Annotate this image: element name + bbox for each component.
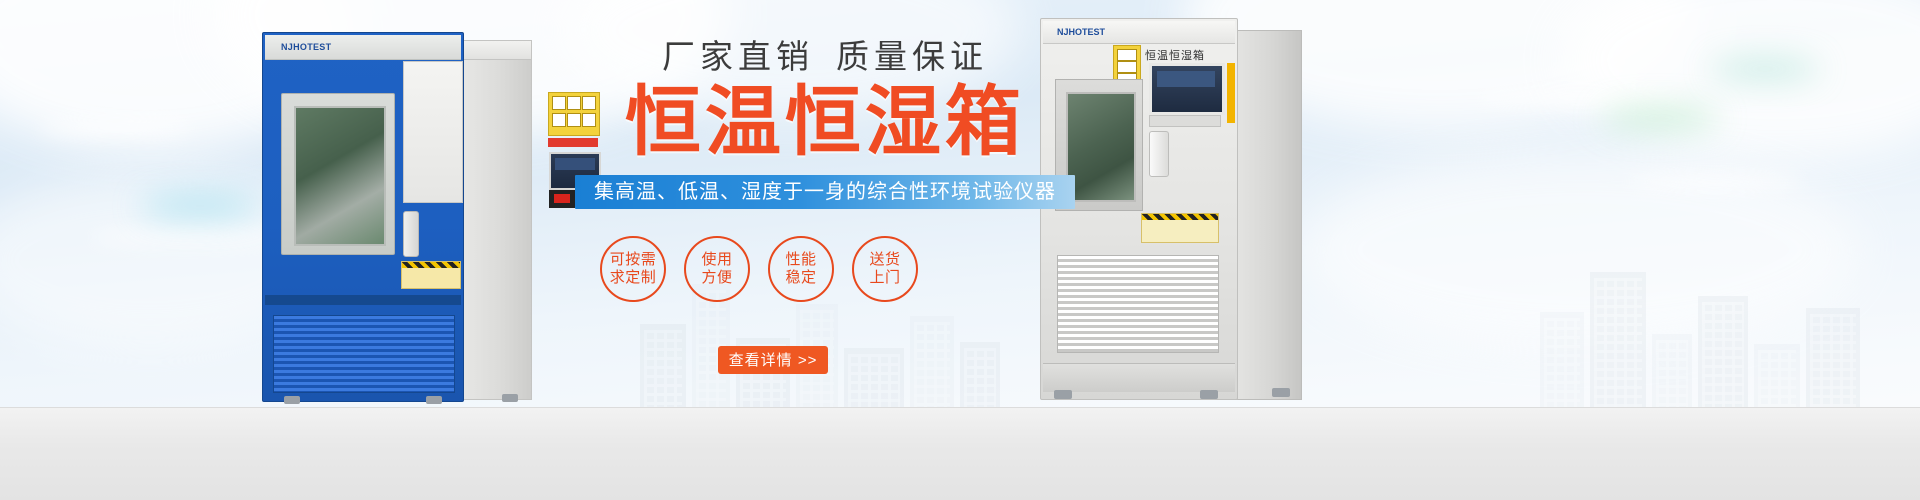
chamber-left-door-handle bbox=[403, 211, 419, 257]
cloud-wisp bbox=[1630, 175, 1800, 189]
promo-banner: NJHOTEST bbox=[0, 0, 1920, 500]
building-shape bbox=[640, 324, 686, 408]
chamber-right-display-screen bbox=[1149, 63, 1225, 115]
feature-badge-easy-use[interactable]: 使用 方便 bbox=[684, 236, 750, 302]
product-image-right: NJHOTEST 恒温恒湿箱 bbox=[1040, 18, 1300, 400]
badge-line-2: 上门 bbox=[869, 269, 900, 287]
chamber-right-foot bbox=[1272, 388, 1290, 397]
building-shape bbox=[1806, 308, 1860, 408]
chamber-left-foot bbox=[502, 394, 518, 402]
badge-line-1: 使用 bbox=[701, 251, 732, 269]
building-shape bbox=[1540, 312, 1584, 408]
skyline-silhouette bbox=[1540, 258, 1880, 408]
chamber-left-brand-label: NJHOTEST bbox=[281, 42, 331, 52]
chamber-left-spec-plate bbox=[401, 261, 461, 289]
chamber-left-ventilation-grille bbox=[273, 315, 455, 393]
aqua-accent bbox=[1710, 60, 1820, 78]
chamber-left-side-top bbox=[458, 40, 532, 60]
building-shape bbox=[910, 316, 954, 408]
chamber-left-control-panel bbox=[403, 61, 463, 203]
chamber-right-spec-plate bbox=[1141, 213, 1219, 243]
chamber-left-foot bbox=[426, 396, 442, 404]
building-shape bbox=[1698, 296, 1748, 408]
feature-badge-stable[interactable]: 性能 稳定 bbox=[768, 236, 834, 302]
feature-badge-custom[interactable]: 可按需 求定制 bbox=[600, 236, 666, 302]
chamber-left-divider bbox=[265, 295, 461, 305]
chamber-right-label-strip bbox=[1149, 115, 1221, 127]
chamber-right-foot bbox=[1054, 390, 1072, 399]
chamber-right-viewing-window bbox=[1066, 92, 1136, 202]
banner-main-title: 恒温恒湿箱 bbox=[575, 83, 1075, 163]
chamber-right-ventilation-grille bbox=[1057, 255, 1219, 353]
building-shape bbox=[1652, 334, 1692, 408]
chamber-left-body: NJHOTEST bbox=[262, 32, 464, 402]
cloud-wisp bbox=[1480, 90, 1680, 106]
cloud-wisp bbox=[90, 230, 280, 244]
banner-copy-block: 厂家直销质量保证 恒温恒湿箱 集高温、低温、湿度于一身的综合性环境试验仪器 bbox=[575, 40, 1075, 209]
chamber-left-foot bbox=[284, 396, 300, 404]
feature-badge-group: 可按需 求定制 使用 方便 性能 稳定 送货 上门 bbox=[600, 236, 1050, 302]
aqua-accent bbox=[140, 195, 260, 217]
chamber-right-base bbox=[1043, 363, 1235, 392]
badge-line-1: 性能 bbox=[785, 251, 816, 269]
chamber-left-door bbox=[281, 93, 395, 255]
headline-part-2: 质量保证 bbox=[836, 38, 988, 75]
building-shape bbox=[844, 348, 904, 408]
headline-part-1: 厂家直销 bbox=[662, 38, 814, 75]
badge-line-2: 稳定 bbox=[785, 269, 816, 287]
badge-line-2: 求定制 bbox=[610, 269, 657, 287]
building-shape bbox=[1590, 272, 1646, 408]
chamber-left-side-panel bbox=[458, 40, 532, 400]
feature-badge-delivery[interactable]: 送货 上门 bbox=[852, 236, 918, 302]
chamber-left-top-cap: NJHOTEST bbox=[265, 35, 461, 60]
aqua-accent bbox=[1600, 108, 1720, 128]
chamber-right-side-panel bbox=[1230, 30, 1302, 400]
chamber-right-foot bbox=[1200, 390, 1218, 399]
cloud-wisp bbox=[40, 120, 190, 136]
view-details-button[interactable]: 查看详情 >> bbox=[718, 346, 828, 374]
chamber-right-accent-stripe bbox=[1227, 63, 1235, 123]
cloud-shape bbox=[1560, 0, 1920, 160]
building-shape bbox=[1754, 344, 1800, 408]
badge-line-1: 可按需 bbox=[610, 251, 657, 269]
chamber-right-door-handle bbox=[1149, 131, 1169, 177]
banner-subtitle-bar: 集高温、低温、湿度于一身的综合性环境试验仪器 bbox=[575, 175, 1075, 209]
badge-line-2: 方便 bbox=[701, 269, 732, 287]
badge-line-1: 送货 bbox=[869, 251, 900, 269]
chamber-right-brand-label: NJHOTEST bbox=[1057, 27, 1105, 37]
product-image-left: NJHOTEST bbox=[262, 32, 530, 402]
building-shape bbox=[960, 342, 1000, 408]
chamber-right-model-label: 恒温恒湿箱 bbox=[1145, 47, 1205, 63]
chamber-left-viewing-window bbox=[294, 106, 386, 246]
ground-strip bbox=[0, 408, 1920, 500]
banner-headline: 厂家直销质量保证 bbox=[575, 40, 1075, 73]
